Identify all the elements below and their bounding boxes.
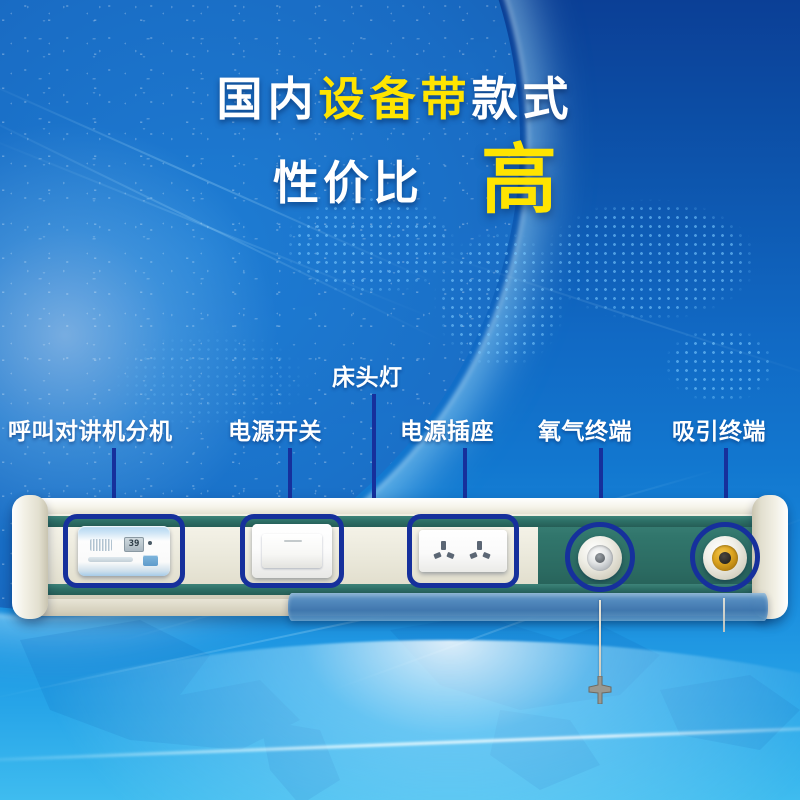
headline-part-2: 设备带 [319,72,472,126]
pull-cord-line-secondary [723,598,725,632]
callout-label-intercom: 呼叫对讲机分机 [8,412,173,446]
socket-pin-b2 [469,552,477,559]
bedside-light-strip[interactable] [288,593,768,621]
suction-terminal-outlet[interactable] [703,536,747,580]
headline-line-1: 国内设备带款式 [0,72,800,126]
panel-end-cap-left [12,495,48,619]
headline-block: 国内设备带款式 性价比 高 [0,72,800,218]
pull-cord-handle-icon[interactable] [586,676,614,704]
intercom-indicator-led [148,541,152,545]
intercom-display: 39 [124,537,144,552]
suction-terminal-port [719,552,731,564]
callout-label-oxygen: 氧气终端 [538,412,632,446]
callout-label-suction: 吸引终端 [672,412,766,446]
panel-top-lip [18,498,782,514]
oxygen-terminal-port [595,553,605,563]
socket-pin-b1 [477,541,482,550]
banner-stage: 国内设备带款式 性价比 高 呼叫对讲机分机 电源开关 床头灯 电源插座 氧气终端… [0,0,800,800]
socket-pin-a1 [441,541,446,550]
suction-terminal-collar [712,545,738,571]
power-socket-unit[interactable] [419,530,507,572]
headline-subtitle: 性价比 [273,147,423,213]
socket-pin-b3 [482,552,490,559]
headline-line-2: 性价比 高 [0,142,800,218]
callout-label-power-switch: 电源开关 [228,412,322,446]
intercom-call-button[interactable] [143,555,158,566]
power-switch-unit[interactable] [252,524,332,578]
pull-cord-line[interactable] [599,600,601,682]
oxygen-terminal-outlet[interactable] [578,536,622,580]
intercom-mic-slot [88,557,133,562]
intercom-handset-unit[interactable]: 39 [78,526,170,576]
headline-part-1: 国内 [217,72,319,126]
oxygen-terminal-collar [587,545,613,571]
callout-label-bedside-lamp: 床头灯 [332,358,403,392]
callout-label-power-socket: 电源插座 [400,412,494,446]
socket-pin-a2 [433,552,441,559]
power-switch-mark [284,540,302,542]
headline-part-3: 款式 [472,72,574,126]
intercom-speaker-grill-icon [90,539,112,551]
headline-emphasis: 高 [481,142,557,218]
power-switch-rocker[interactable] [262,534,322,568]
socket-pin-a3 [446,552,454,559]
